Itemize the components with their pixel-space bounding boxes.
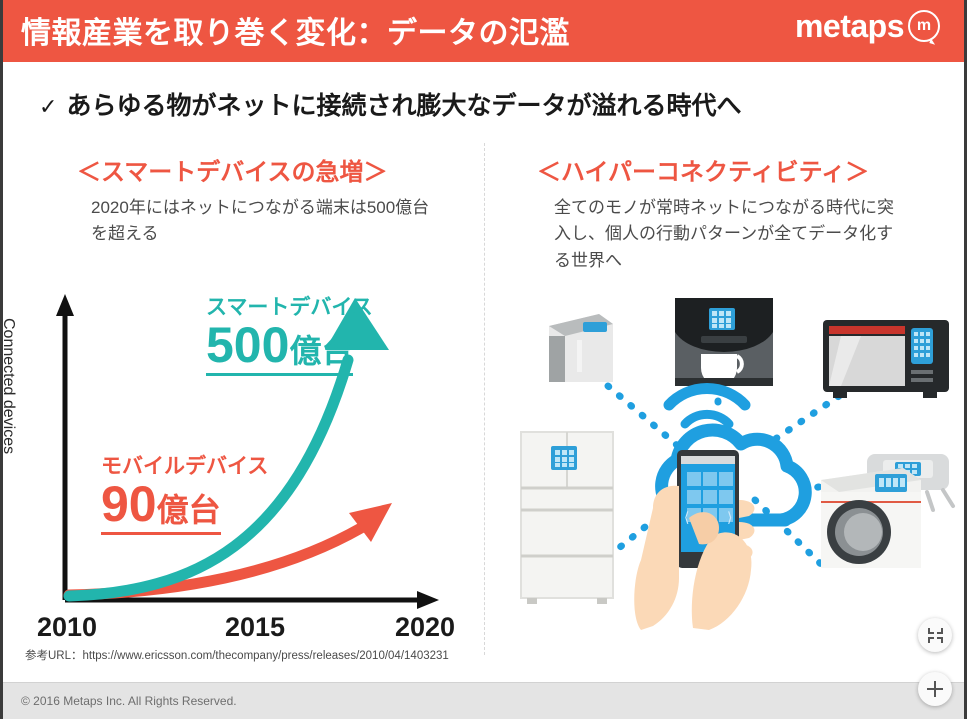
subtitle-text: あらゆる物がネットに接続され膨大なデータが溢れる時代へ [66, 92, 741, 120]
washing-machine-icon [821, 468, 921, 568]
series-value-unit-smart: 億台 [289, 333, 353, 369]
series-annotation-mobile: モバイルデバイス 90億台 [101, 455, 268, 535]
slide-header: 情報産業を取り巻く変化：データの氾濫 metaps m [3, 0, 964, 62]
copyright-text: © 2016 Metaps Inc. All Rights Reserved. [21, 694, 237, 708]
y-axis-label: Connected devices [0, 318, 17, 454]
water-purifier-icon [549, 314, 613, 382]
x-tick-2020: 2020 [395, 612, 455, 643]
iot-illustration: ⟨ ⟩ [503, 278, 963, 668]
slide-footer: © 2016 Metaps Inc. All Rights Reserved. [3, 682, 964, 719]
coffee-machine-icon [675, 298, 773, 386]
refrigerator-icon [521, 432, 613, 604]
series-value-number-mobile: 90 [101, 476, 157, 532]
logo-speech-bubble-icon: m [908, 10, 940, 42]
x-tick-2010: 2010 [37, 612, 97, 643]
x-tick-2015: 2015 [225, 612, 285, 643]
series-annotation-smart: スマートデバイス 500億台 [206, 296, 373, 376]
plus-icon [927, 681, 943, 697]
left-column-heading: ＜スマートデバイスの急増＞ [77, 152, 388, 187]
right-column-heading: ＜ハイパーコネクティビティ＞ [537, 152, 869, 187]
series-value-smart: 500億台 [206, 319, 353, 376]
left-column-body: 2020年にはネットにつながる端末は500億台を超える [91, 195, 431, 248]
series-value-unit-mobile: 億台 [157, 492, 221, 528]
svg-text:⟩: ⟩ [727, 509, 732, 525]
fullscreen-button[interactable] [918, 618, 952, 652]
iot-svg: ⟨ ⟩ [503, 278, 963, 668]
series-name-smart: スマートデバイス [206, 296, 373, 319]
right-column-body: 全てのモノが常時ネットにつながる時代に突入し、個人の行動パターンが全てデータ化す… [554, 195, 894, 274]
zoom-in-button[interactable] [918, 672, 952, 706]
series-value-number-smart: 500 [206, 317, 289, 373]
slide-subtitle: ✓あらゆる物がネットに接続され膨大なデータが溢れる時代へ [39, 86, 741, 122]
page-title: 情報産業を取り巻く変化：データの氾濫 [21, 8, 570, 52]
logo-wordmark: metaps [795, 10, 904, 42]
check-icon: ✓ [39, 94, 57, 119]
chart-source-citation: 参考URL：https://www.ericsson.com/thecompan… [25, 647, 449, 663]
series-name-mobile: モバイルデバイス [101, 455, 268, 478]
svg-text:⟨: ⟨ [684, 509, 689, 525]
metaps-logo: metaps m [795, 10, 940, 42]
slide-canvas: 情報産業を取り巻く変化：データの氾濫 metaps m ✓あらゆる物がネットに接… [0, 0, 967, 719]
logo-mark-letter: m [917, 18, 931, 34]
wifi-icon [669, 388, 745, 424]
smartphone-in-hand-icon: ⟨ ⟩ [634, 450, 754, 630]
fullscreen-icon [928, 628, 943, 643]
column-divider [484, 143, 485, 655]
series-value-mobile: 90億台 [101, 478, 221, 535]
microwave-oven-icon [823, 320, 949, 398]
